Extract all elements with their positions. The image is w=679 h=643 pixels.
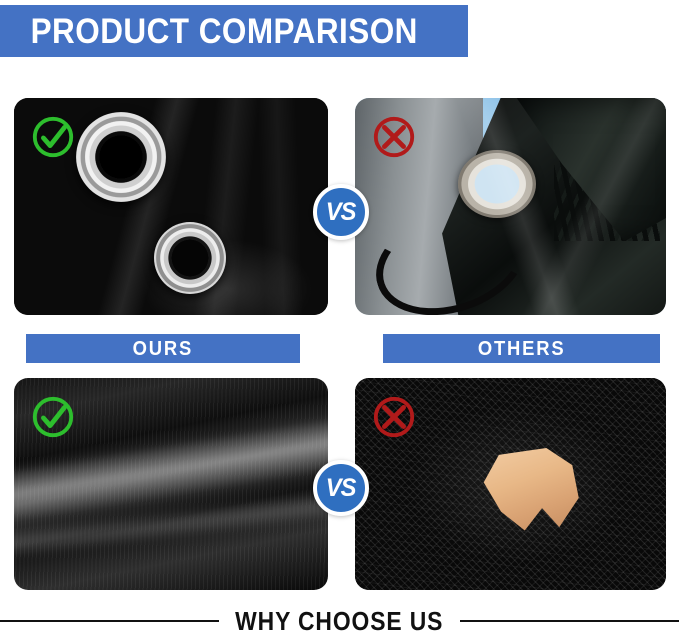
panel-others-grommet: [355, 98, 666, 315]
vs-label: VS: [326, 200, 356, 225]
panel-others-material: [355, 378, 666, 590]
footer-rule-left: [0, 620, 219, 622]
label-bar-ours: OURS: [26, 334, 300, 363]
metal-grommet-small: [154, 222, 226, 294]
x-circle-icon: [371, 394, 417, 440]
footer-rule-right: [460, 620, 679, 622]
title-banner: PRODUCT COMPARISON: [0, 5, 468, 57]
page-title: PRODUCT COMPARISON: [0, 14, 418, 49]
product-comparison-infographic: PRODUCT COMPARISON: [0, 0, 679, 643]
footer: WHY CHOOSE US: [0, 604, 679, 638]
check-circle-icon: [30, 114, 76, 160]
x-circle-icon: [371, 114, 417, 160]
panel-ours-material: [14, 378, 328, 590]
check-circle-icon: [30, 394, 76, 440]
label-ours-text: OURS: [133, 339, 194, 359]
panel-ours-grommet: [14, 98, 328, 315]
vs-badge-row-1: VS: [313, 184, 369, 240]
vs-badge-row-2: VS: [313, 460, 369, 516]
vs-label: VS: [326, 476, 356, 501]
footer-title: WHY CHOOSE US: [234, 608, 446, 634]
label-bar-others: OTHERS: [383, 334, 660, 363]
label-others-text: OTHERS: [478, 339, 566, 359]
metal-grommet-large: [76, 112, 166, 202]
